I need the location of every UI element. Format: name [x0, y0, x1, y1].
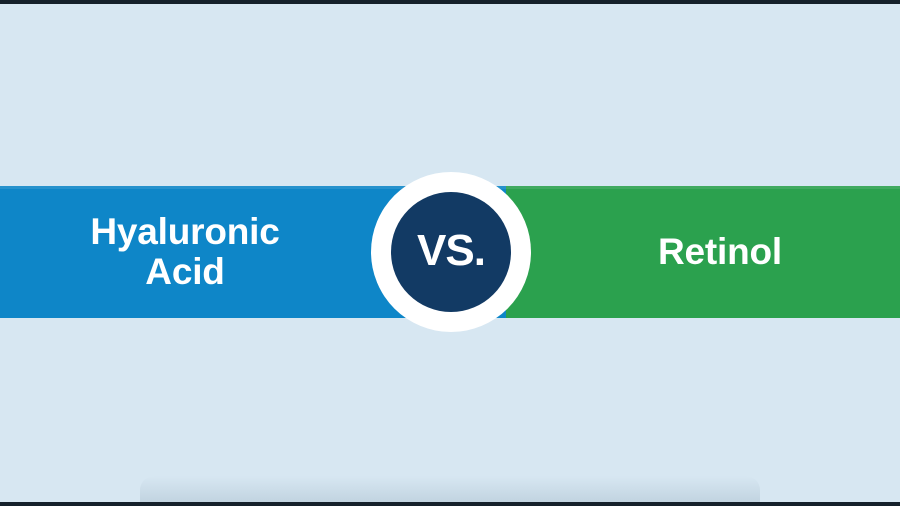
comparison-label-right: Retinol [540, 186, 900, 318]
versus-badge: VS. [371, 172, 531, 332]
comparison-label-left: Hyaluronic Acid [0, 186, 370, 318]
versus-badge-disc: VS. [391, 192, 511, 312]
slide-canvas: Hyaluronic Acid Retinol VS. [0, 0, 900, 506]
frame-edge-bottom [0, 502, 900, 506]
bottom-slab-decoration [140, 476, 760, 502]
frame-edge-top [0, 0, 900, 4]
versus-label: VS. [417, 229, 485, 273]
